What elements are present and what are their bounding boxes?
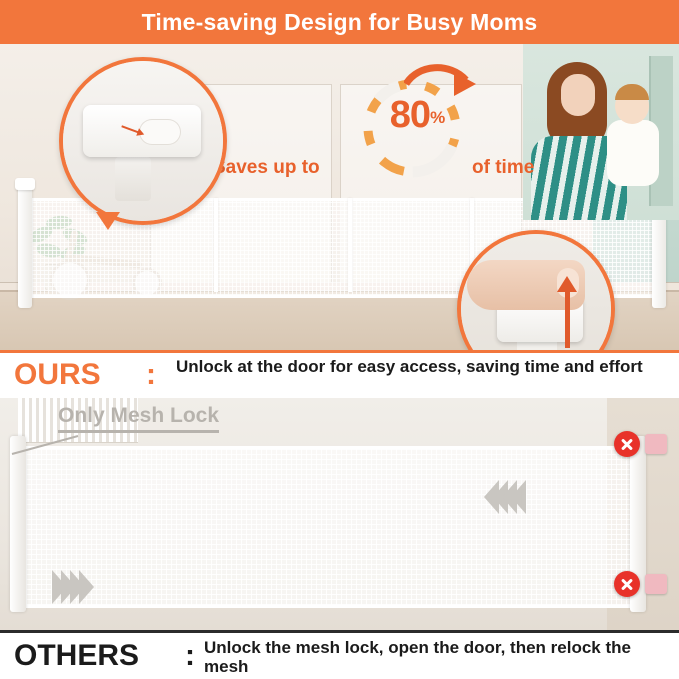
gate-post-left <box>18 186 32 308</box>
label-leader-line <box>10 434 80 456</box>
lock-blocked-top-icon <box>614 431 640 457</box>
bottom-photo-panel: Only Mesh Lock <box>0 398 679 630</box>
ours-colon: : <box>146 358 156 392</box>
finger-press-callout <box>457 230 615 350</box>
percent-unit: % <box>430 108 444 127</box>
others-colon: : <box>185 639 195 673</box>
lock-stem <box>115 157 151 201</box>
ours-label: OURS <box>14 358 101 392</box>
chevron-left-icon <box>511 480 526 514</box>
baby-body <box>607 120 659 186</box>
mesh-lock-clip <box>645 434 667 454</box>
competitor-mesh-gate <box>10 440 656 608</box>
of-time-text: of time <box>472 157 534 179</box>
only-mesh-lock-label: Only Mesh Lock <box>58 404 219 433</box>
ours-description: Unlock at the door for easy access, savi… <box>176 357 670 376</box>
chevron-row-left <box>484 480 520 514</box>
lock-knob <box>139 119 181 145</box>
mesh-lock-clip <box>645 574 667 594</box>
saves-up-to-text: Saves up to <box>213 157 320 179</box>
gate-post-left <box>10 436 26 612</box>
others-description: Unlock the mesh lock, open the door, the… <box>204 638 674 676</box>
lock-housing <box>83 105 201 157</box>
gate-post-cap <box>15 178 35 190</box>
chevron-row-right <box>52 570 88 604</box>
percent-number: 80 <box>390 94 430 136</box>
header-banner: Time-saving Design for Busy Moms <box>0 0 679 44</box>
lock-mechanism-callout <box>59 57 227 225</box>
ours-caption-band: OURS : Unlock at the door for easy acces… <box>0 350 679 404</box>
gate-mesh <box>18 446 636 608</box>
top-photo-panel: 80% Saves up to of time <box>0 44 679 350</box>
percent-arc-graphic: 80% <box>352 68 482 192</box>
mom-face <box>561 74 595 116</box>
percent-value: 80% <box>352 94 482 137</box>
product-infographic: Time-saving Design for Busy Moms <box>0 0 679 679</box>
banner-title: Time-saving Design for Busy Moms <box>142 9 538 36</box>
callout-pointer <box>96 212 120 230</box>
others-caption-band: OTHERS : Unlock the mesh lock, open the … <box>0 630 679 679</box>
lock-blocked-bottom-icon <box>614 571 640 597</box>
mom-and-baby-photo <box>523 44 679 220</box>
others-label: OTHERS <box>14 639 139 673</box>
chevron-right-icon <box>79 570 94 604</box>
up-arrow-icon <box>565 290 570 348</box>
gate-rib <box>348 198 352 292</box>
